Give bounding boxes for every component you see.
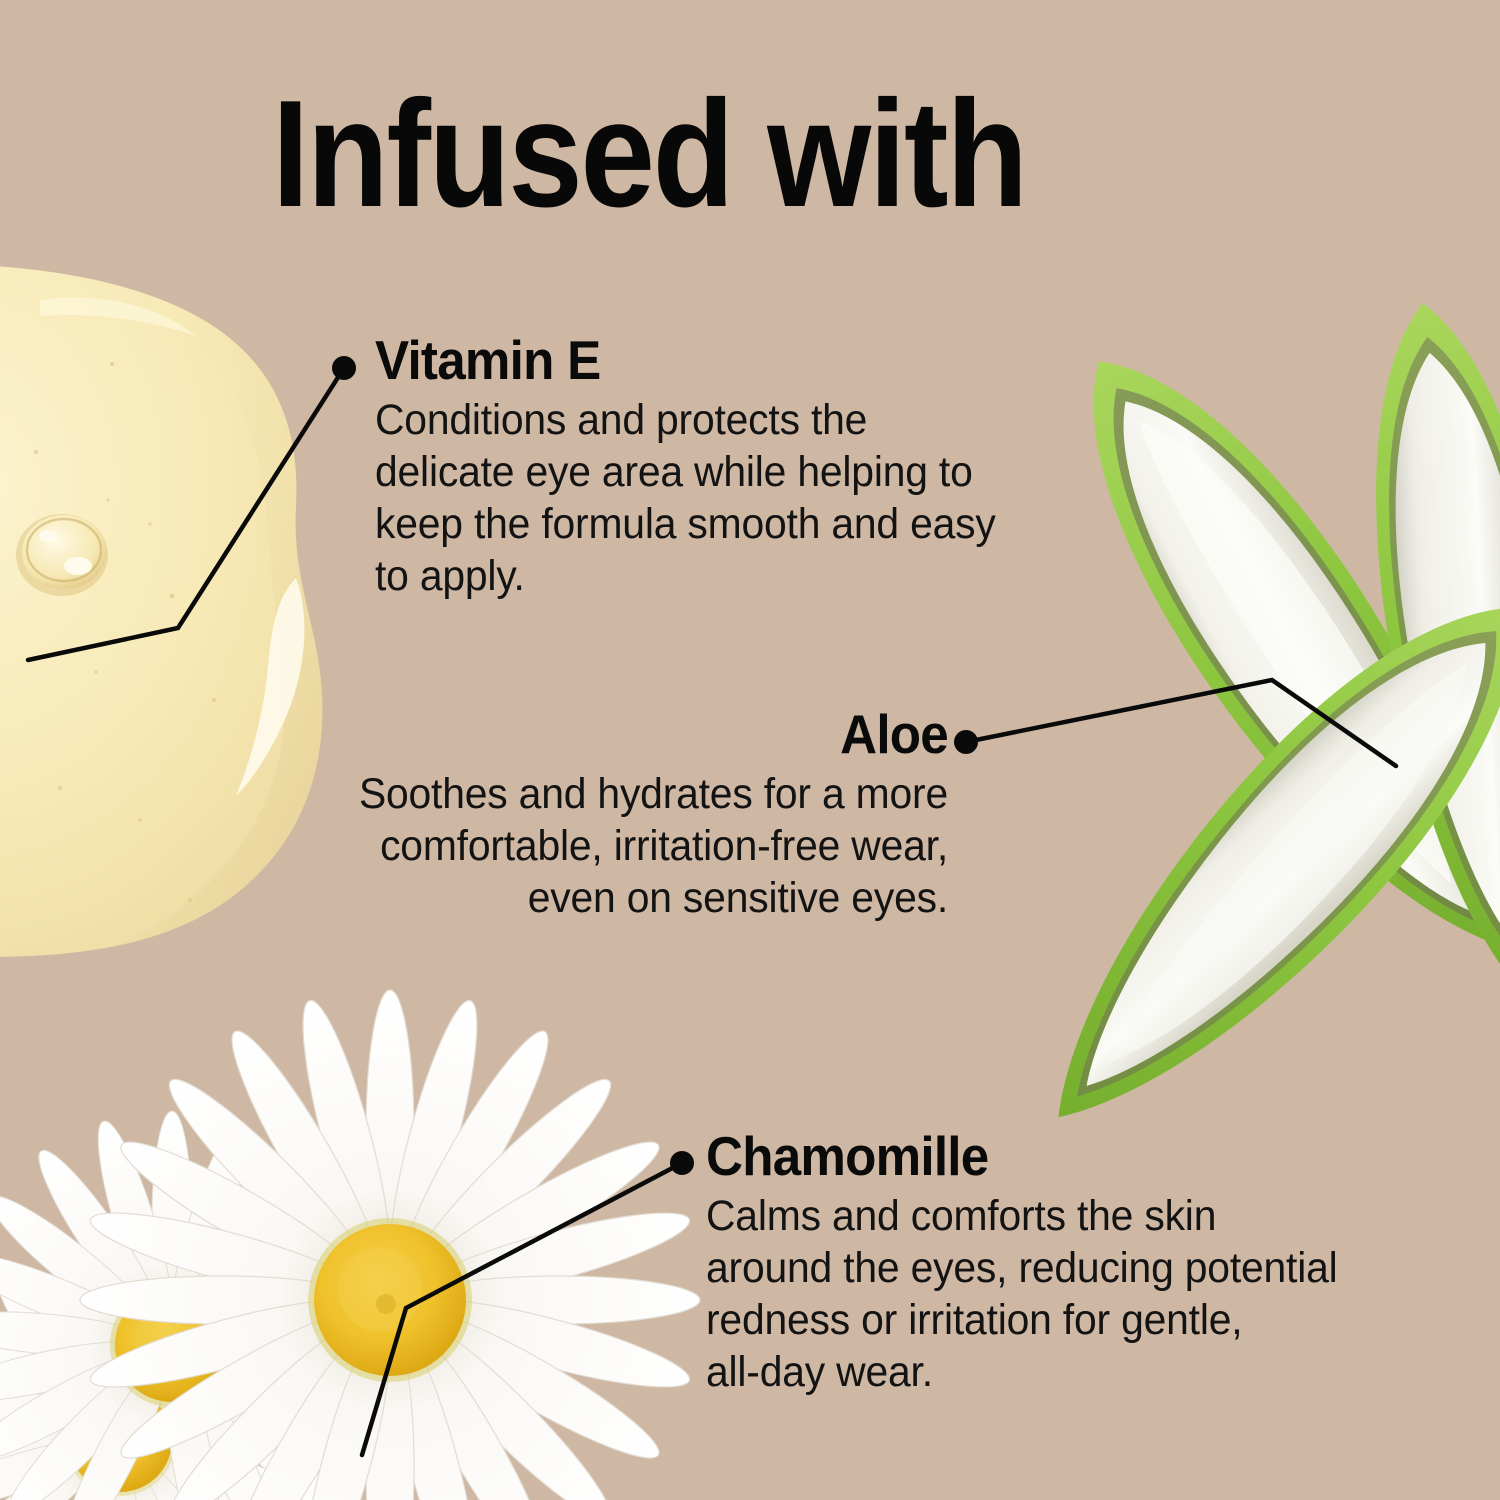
desc-line: Conditions and protects the [375,394,1040,446]
leader-line-vitamin-e [28,368,344,660]
desc-line: Soothes and hydrates for a more [350,768,949,820]
leader-line-aloe [966,680,1396,766]
flower-petals-c [0,1232,328,1500]
ingredient-name-chamomille: Chamomille [706,1128,1348,1184]
desc-line: redness or irritation for gentle, [706,1294,1362,1346]
ingredient-description-chamomille: Calms and comforts the skin around the e… [706,1190,1362,1398]
leader-dot-vitamin-e [332,356,356,380]
desc-line: Calms and comforts the skin [706,1190,1362,1242]
ingredient-block-vitamin-e: Vitamin E Conditions and protects the de… [375,332,1075,602]
desc-line: to apply. [375,550,1040,602]
ingredient-name-aloe: Aloe [362,706,948,762]
ingredient-description-aloe: Soothes and hydrates for a more comforta… [350,768,949,924]
desc-line: even on sensitive eyes. [350,872,949,924]
desc-line: around the eyes, reducing potential [706,1242,1362,1294]
ingredient-name-vitamin-e: Vitamin E [375,332,1026,388]
leader-dot-chamomille [670,1151,694,1175]
ingredient-block-aloe: Aloe Soothes and hydrates for a more com… [318,706,948,924]
page-title: Infused with [272,78,1026,230]
leader-dot-aloe [954,730,978,754]
leader-line-chamomille [362,1163,682,1455]
ingredient-block-chamomille: Chamomille Calms and comforts the skin a… [706,1128,1396,1398]
desc-line: keep the formula smooth and easy [375,498,1040,550]
desc-line: delicate eye area while helping to [375,446,1040,498]
serum-blob-image [0,264,322,956]
ingredient-description-vitamin-e: Conditions and protects the delicate eye… [375,394,1040,602]
desc-line: all-day wear. [706,1346,1362,1398]
ingredient-infographic: Infused with Vitamin E Conditions and pr… [0,0,1500,1500]
serum-bubble [16,514,108,596]
chamomile-flowers-image [0,990,700,1500]
desc-line: comfortable, irritation-free wear, [350,820,949,872]
